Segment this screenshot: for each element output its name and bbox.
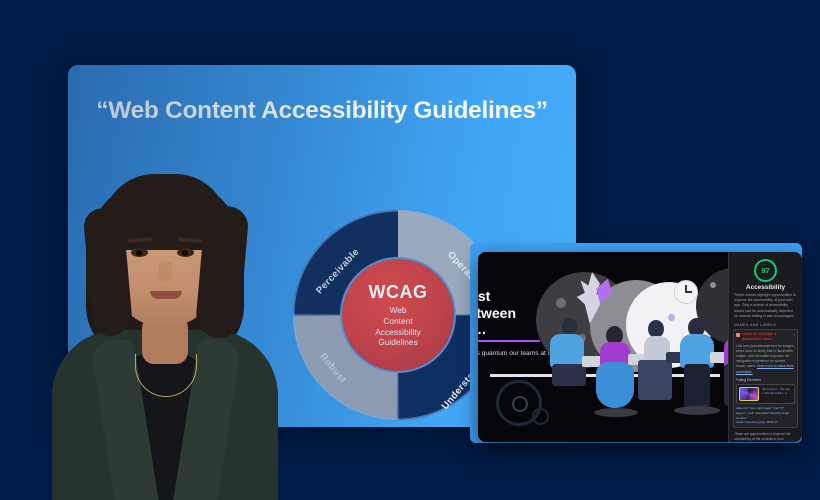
- person-legs: [684, 364, 710, 408]
- panel-description-text: These checks highlight opportunities to …: [734, 293, 796, 318]
- code-line: target="_self" aria-label="Explore legal…: [736, 411, 795, 421]
- dark-browser-window: rtestbetweents… line, it’s quantum our t…: [478, 252, 802, 442]
- audit-body: Link text (and alternate text for images…: [736, 344, 795, 375]
- element-thumbnail: [739, 387, 759, 401]
- presenter-nose: [159, 262, 172, 282]
- presenter-video-overlay: [40, 148, 290, 500]
- wcag-expansion-line: Web: [375, 305, 421, 316]
- panel-description: These checks highlight opportunities to …: [732, 293, 799, 321]
- wcag-center-hub: WCAG Web Content Accessibility Guideline…: [340, 257, 456, 373]
- panel-title: Accessibility: [732, 284, 799, 291]
- illustration-dot: [556, 298, 566, 308]
- person-skirt: [596, 362, 634, 408]
- wcag-expansion: Web Content Accessibility Guidelines: [375, 305, 421, 348]
- presenter-mouth: [150, 291, 182, 299]
- section-title-names-and-labels: NAMES AND LABELS: [732, 321, 799, 328]
- accessibility-score-value: 97: [761, 266, 769, 275]
- slide-title: “Web Content Accessibility Guidelines”: [68, 97, 576, 125]
- wcag-acronym: WCAG: [369, 282, 428, 303]
- person-legs: [552, 364, 586, 386]
- chair-icon: [638, 360, 672, 400]
- person-head: [562, 318, 577, 335]
- hero-accent-rule: [478, 340, 540, 342]
- presenter-eye-right: [177, 248, 194, 257]
- wcag-expansion-line: Content: [375, 316, 421, 327]
- wheelchair-caster-icon: [532, 408, 549, 425]
- chevron-down-icon[interactable]: ›: [794, 332, 795, 337]
- panel-footnote: These are opportunities to improve the c…: [732, 430, 799, 442]
- illustration-dot: [710, 282, 716, 288]
- error-icon: [736, 333, 740, 337]
- failing-element-selector: div.col-lg-6 > div.row > div.col-md-6 > …: [762, 387, 792, 396]
- code-line: class="tool-cta-group, MDR-2": [736, 420, 795, 425]
- person-shadow: [674, 406, 720, 415]
- person-shadow: [594, 408, 638, 417]
- audit-item[interactable]: Links do not have a discernible name › L…: [733, 329, 798, 428]
- wcag-expansion-line: Accessibility: [375, 327, 421, 338]
- accessibility-score-ring: 97: [754, 259, 777, 282]
- audit-title: Links do not have a discernible name: [742, 332, 792, 342]
- presenter-eye-left: [131, 248, 148, 257]
- failing-elements-label: Failing Elements: [736, 378, 795, 382]
- illustration-dot: [668, 314, 675, 321]
- person-body: [550, 334, 584, 368]
- failing-element-code: data-src="/cdn-cgi/image/" href="#" targ…: [736, 406, 795, 426]
- screenshot-stage: “Web Content Accessibility Guidelines” P…: [0, 0, 820, 500]
- failing-element-row: div.col-lg-6 > div.row > div.col-md-6 > …: [736, 384, 795, 404]
- audit-header[interactable]: Links do not have a discernible name ›: [736, 332, 795, 342]
- wcag-expansion-line: Guidelines: [375, 337, 421, 348]
- clock-icon: [674, 280, 698, 304]
- person-body: [680, 334, 714, 368]
- lighthouse-accessibility-panel[interactable]: 97 Accessibility These checks highlight …: [728, 252, 802, 442]
